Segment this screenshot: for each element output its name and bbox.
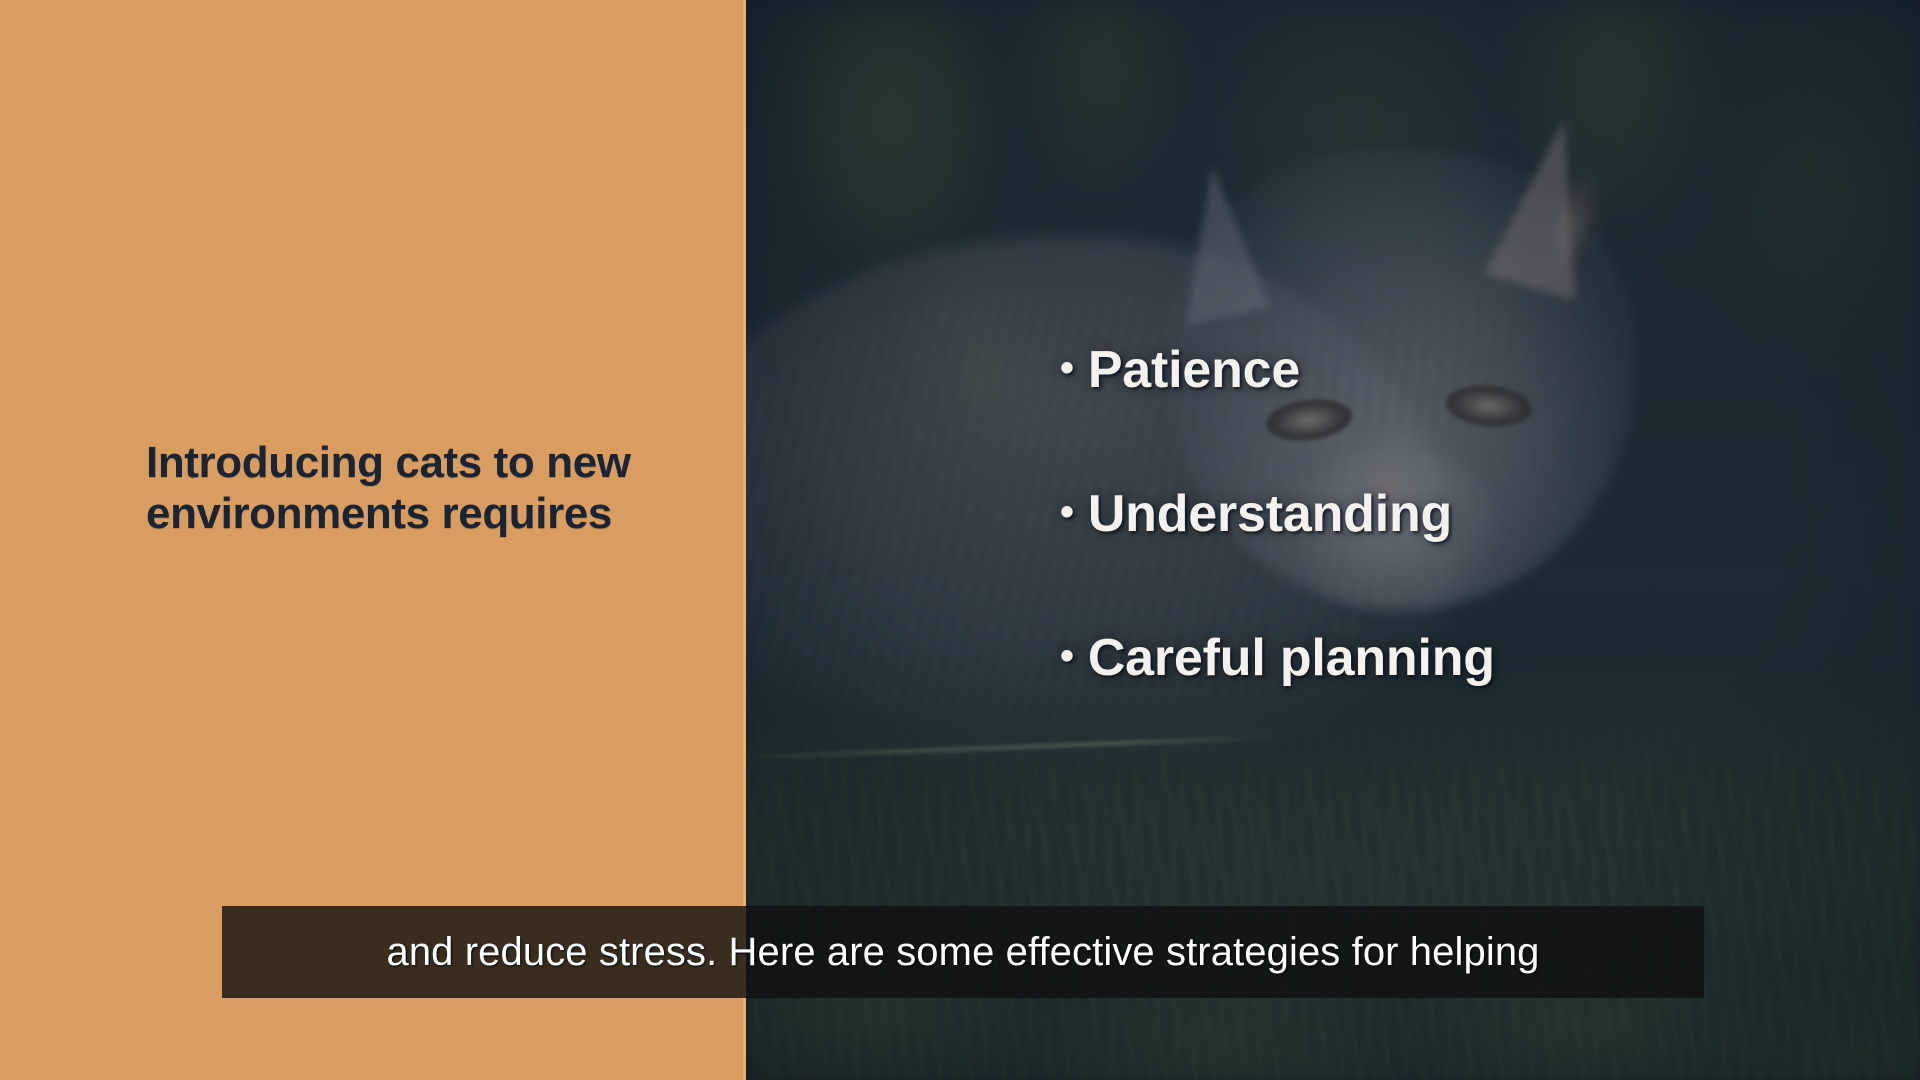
bullet-label: Understanding — [1088, 484, 1452, 544]
bullet-label: Patience — [1088, 340, 1300, 400]
bullet-dot-icon: • — [1060, 348, 1074, 388]
bullet-item-patience: • Patience — [1060, 340, 1495, 400]
bullet-item-careful-planning: • Careful planning — [1060, 628, 1495, 688]
bullet-list: • Patience • Understanding • Careful pla… — [1060, 340, 1495, 688]
bullet-item-understanding: • Understanding — [1060, 484, 1495, 544]
slide-canvas: Introducing cats to new environments req… — [0, 0, 1920, 1080]
slide-headline: Introducing cats to new environments req… — [146, 437, 666, 540]
bullet-dot-icon: • — [1060, 492, 1074, 532]
subtitle-bar: and reduce stress. Here are some effecti… — [222, 906, 1704, 998]
bullet-label: Careful planning — [1088, 628, 1495, 688]
grass-blades — [746, 700, 1920, 1080]
bullet-dot-icon: • — [1060, 636, 1074, 676]
subtitle-text: and reduce stress. Here are some effecti… — [386, 930, 1539, 975]
